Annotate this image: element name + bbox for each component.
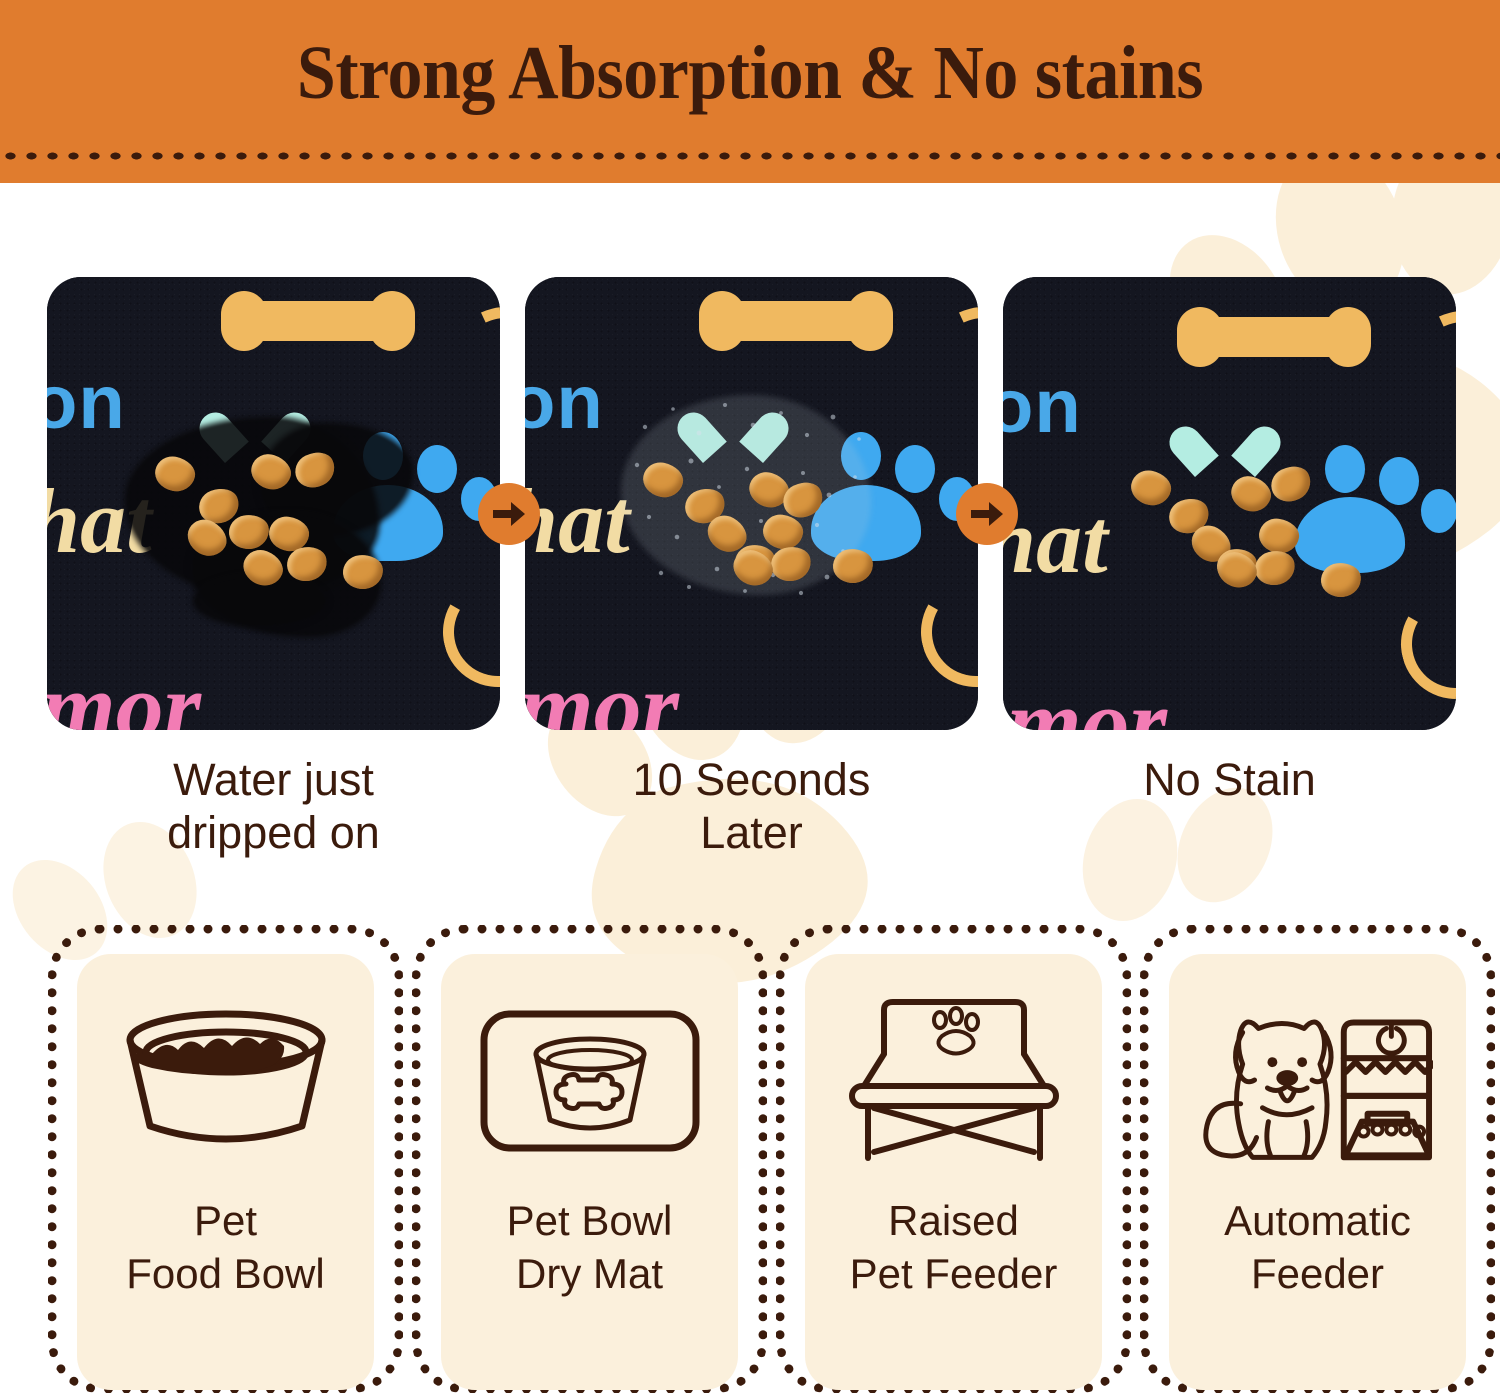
label-line: Pet Bowl bbox=[441, 1195, 738, 1248]
arrow-right-icon bbox=[478, 483, 540, 545]
label-line: Pet Feeder bbox=[805, 1248, 1102, 1301]
mat-heart-graphic bbox=[1193, 429, 1253, 483]
page-title: Strong Absorption & No stains bbox=[60, 30, 1440, 117]
feature-card-automatic-feeder[interactable]: Automatic Feeder bbox=[1140, 925, 1495, 1393]
pet-food-bowl-glyph bbox=[116, 1006, 336, 1156]
header-banner: Strong Absorption & No stains bbox=[0, 0, 1500, 183]
pet-bowl-dry-mat-icon bbox=[475, 988, 705, 1173]
mat-word-on: on bbox=[525, 365, 604, 441]
mat-bone-graphic bbox=[243, 301, 393, 341]
arrow-right-icon bbox=[956, 483, 1018, 545]
pet-bowl-dry-mat-glyph bbox=[478, 1006, 702, 1156]
label-line: Pet bbox=[77, 1195, 374, 1248]
caption-line: 10 Seconds bbox=[525, 753, 978, 806]
caption-line: dripped on bbox=[47, 806, 500, 859]
arrow-right-glyph bbox=[491, 499, 527, 529]
demo-caption-1: Water just dripped on bbox=[47, 753, 500, 859]
mat-word-mor: mor bbox=[47, 659, 201, 730]
mat-bone-graphic bbox=[721, 301, 871, 341]
mat-word-on: on bbox=[47, 365, 126, 441]
infographic-page: Strong Absorption & No stains on hat mor bbox=[0, 0, 1500, 1393]
caption-line: No Stain bbox=[1003, 753, 1456, 806]
pet-food-bowl-icon bbox=[111, 988, 341, 1173]
label-line: Automatic bbox=[1169, 1195, 1466, 1248]
mat-paw-pad bbox=[895, 445, 935, 493]
feature-cards-row: Pet Food Bowl bbox=[0, 925, 1500, 1393]
label-line: Dry Mat bbox=[441, 1248, 738, 1301]
mat-paw-pad bbox=[1325, 445, 1365, 493]
caption-line: Later bbox=[525, 806, 978, 859]
demo-photo-step-3: on hat mor bbox=[1003, 277, 1456, 730]
header-dotted-divider bbox=[0, 149, 1500, 163]
mat-word-on: on bbox=[1003, 369, 1082, 445]
label-line: Food Bowl bbox=[77, 1248, 374, 1301]
mat-word-mor: mor bbox=[1007, 675, 1167, 730]
label-line: Raised bbox=[805, 1195, 1102, 1248]
mat-paw-pad bbox=[1421, 489, 1456, 533]
caption-line: Water just bbox=[47, 753, 500, 806]
card-inner-panel: Automatic Feeder bbox=[1169, 954, 1466, 1390]
demo-caption-2: 10 Seconds Later bbox=[525, 753, 978, 859]
mat-paw-pad bbox=[417, 445, 457, 493]
feature-card-raised-pet-feeder[interactable]: Raised Pet Feeder bbox=[776, 925, 1131, 1393]
arrow-right-glyph bbox=[969, 499, 1005, 529]
feature-card-label: Pet Food Bowl bbox=[77, 1195, 374, 1300]
feature-card-label: Automatic Feeder bbox=[1169, 1195, 1466, 1300]
feature-card-label: Raised Pet Feeder bbox=[805, 1195, 1102, 1300]
mat-bone-graphic bbox=[1199, 317, 1349, 357]
feature-card-pet-bowl-dry-mat[interactable]: Pet Bowl Dry Mat bbox=[412, 925, 767, 1393]
demo-photo-step-2: on hat mor bbox=[525, 277, 978, 730]
automatic-feeder-icon bbox=[1203, 988, 1433, 1173]
label-line: Feeder bbox=[1169, 1248, 1466, 1301]
mat-paw-pad bbox=[1379, 457, 1419, 505]
mat-word-hat: hat bbox=[1003, 495, 1108, 587]
absorption-demo-strip: on hat mor bbox=[0, 183, 1500, 873]
card-inner-panel: Raised Pet Feeder bbox=[805, 954, 1102, 1390]
raised-pet-feeder-glyph bbox=[840, 996, 1068, 1166]
automatic-feeder-glyph bbox=[1203, 996, 1433, 1166]
card-inner-panel: Pet Food Bowl bbox=[77, 954, 374, 1390]
demo-caption-3: No Stain bbox=[1003, 753, 1456, 806]
feature-card-pet-food-bowl[interactable]: Pet Food Bowl bbox=[48, 925, 403, 1393]
card-inner-panel: Pet Bowl Dry Mat bbox=[441, 954, 738, 1390]
feature-card-label: Pet Bowl Dry Mat bbox=[441, 1195, 738, 1300]
demo-photo-step-1: on hat mor bbox=[47, 277, 500, 730]
raised-pet-feeder-icon bbox=[839, 988, 1069, 1173]
mat-word-mor: mor bbox=[525, 659, 679, 730]
